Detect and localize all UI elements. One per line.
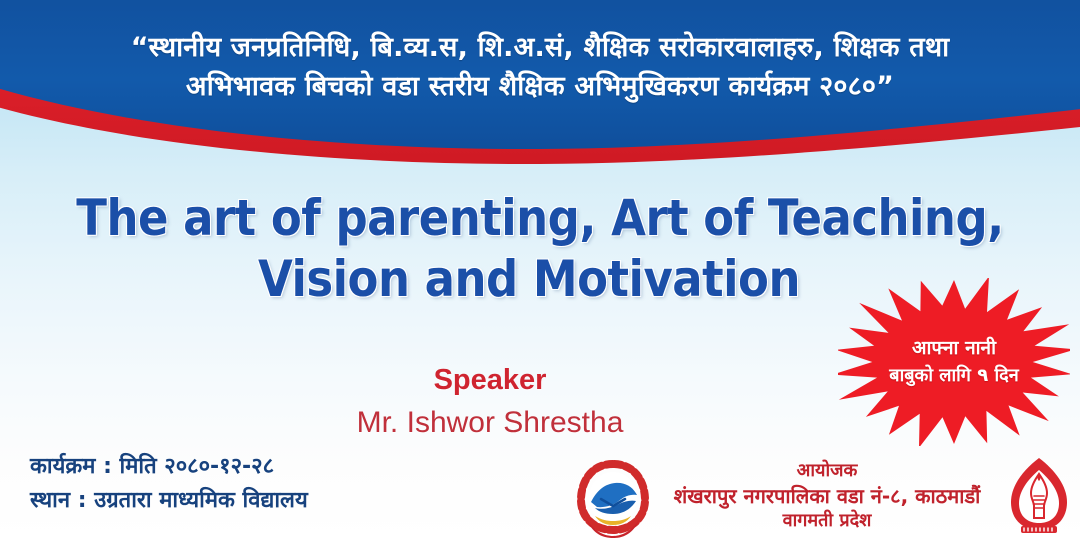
organizer-province: वागमती प्रदेश (653, 509, 1001, 532)
header-banner: “स्थानीय जनप्रतिनिधि, बि.व्य.स, शि.अ.सं,… (0, 0, 1080, 185)
nepal-government-emblem-icon (575, 454, 651, 538)
detail-venue: स्थान : उग्रतारा माध्यमिक विद्यालय (30, 484, 308, 518)
detail-program-date: कार्यक्रम : मिति २०८०-१२-२८ (30, 450, 308, 484)
organizer-title: आयोजक (653, 460, 1001, 483)
event-poster: “स्थानीय जनप्रतिनिधि, बि.व्य.स, शि.अ.सं,… (0, 0, 1080, 540)
organizer-block: आयोजक शंखरापुर नगरपालिका वडा नं-८, काठमा… (575, 452, 1075, 540)
municipality-logo-icon (1003, 454, 1075, 538)
title-line-1: The art of parenting, Art of Teaching, (0, 188, 1080, 249)
organizer-name: शंखरापुर नगरपालिका वडा नं-८, काठमाडौं (653, 483, 1001, 509)
event-details: कार्यक्रम : मिति २०८०-१२-२८ स्थान : उग्र… (30, 450, 308, 518)
speaker-block: Speaker Mr. Ishwor Shrestha (170, 362, 810, 442)
starburst-badge: आफ्ना नानी बाबुको लागि ٩ दिन (838, 278, 1070, 446)
speaker-name: Mr. Ishwor Shrestha (170, 403, 810, 442)
speaker-label: Speaker (170, 362, 810, 398)
organizer-text: आयोजक शंखरापुर नगरपालिका वडा नं-८, काठमा… (651, 460, 1003, 532)
starburst-icon (838, 278, 1070, 446)
